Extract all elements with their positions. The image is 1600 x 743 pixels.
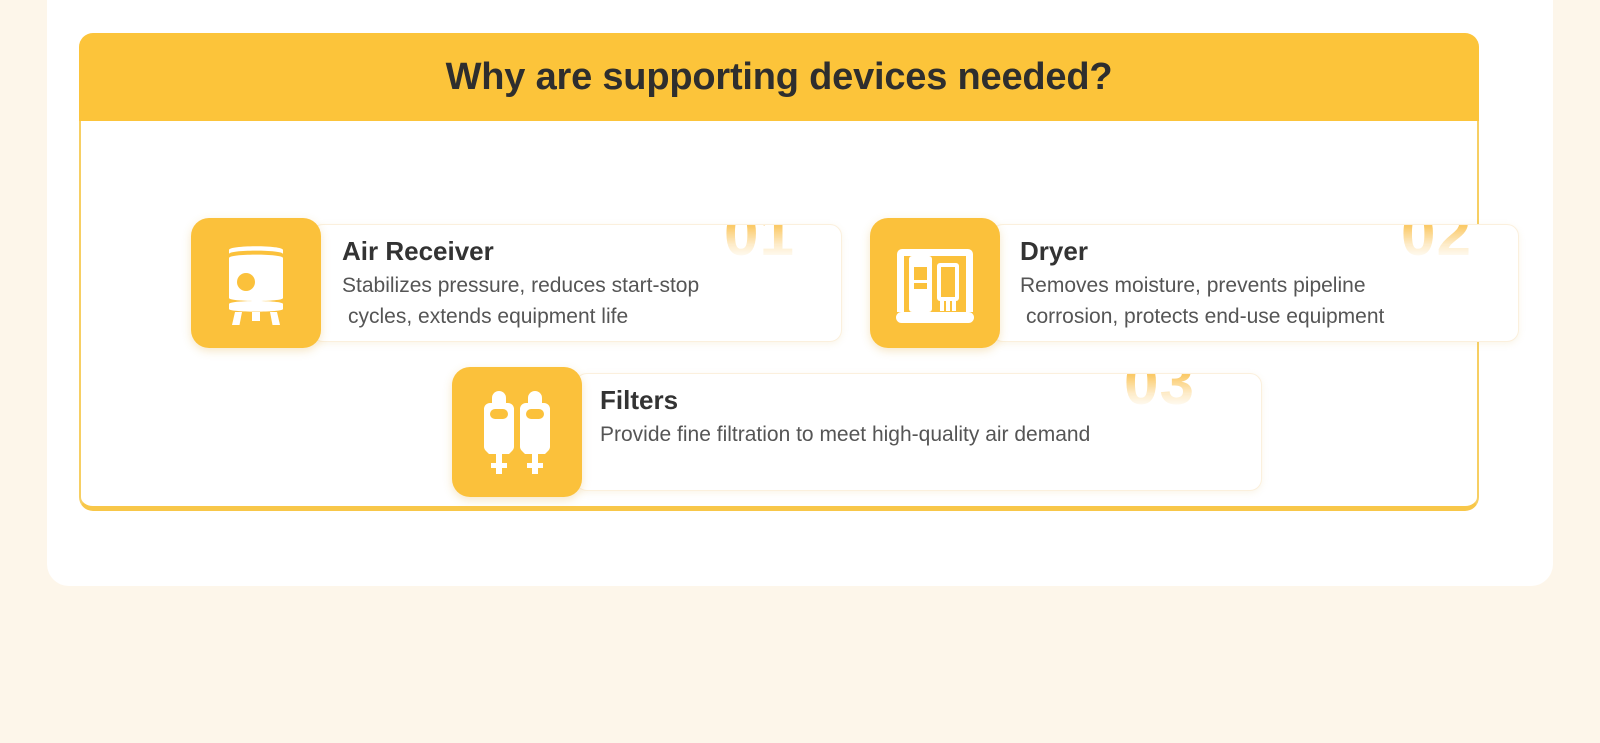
card-description-line-1: Stabilizes pressure, reduces start-stop — [342, 274, 699, 297]
air-receiver-tank-icon — [218, 241, 294, 325]
card-description: Provide fine filtration to meet high-qua… — [600, 419, 1090, 450]
dryer-cabinet-icon — [896, 243, 974, 323]
dryer-icon-tile — [870, 218, 1000, 348]
device-card-filters[interactable]: 03 Filters Provide fine filtration to me… — [575, 373, 1262, 491]
card-text-block: Dryer Removes moisture, prevents pipelin… — [1020, 236, 1384, 332]
card-number-watermark: 02 — [1401, 224, 1472, 270]
card-description: Stabilizes pressure, reduces start-stop … — [342, 270, 699, 332]
card-title: Dryer — [1020, 236, 1384, 266]
card-description-line-1: Removes moisture, prevents pipeline — [1020, 274, 1366, 297]
card-number-watermark: 03 — [1124, 373, 1195, 419]
device-card-dryer[interactable]: 02 Dryer Removes moisture, prevents pipe… — [991, 224, 1519, 342]
panel-title: Why are supporting devices needed? — [446, 56, 1113, 99]
filters-icon-tile — [452, 367, 582, 497]
card-number-watermark: 01 — [724, 224, 795, 270]
filter-vessels-icon — [482, 389, 552, 475]
card-description: Removes moisture, prevents pipeline corr… — [1020, 270, 1384, 332]
card-description-line-2: corrosion, protects end-use equipment — [1020, 301, 1384, 332]
device-card-air-receiver[interactable]: 01 Air Receiver Stabilizes pressure, red… — [311, 224, 842, 342]
card-title: Filters — [600, 385, 1090, 415]
card-description-line-1: Provide fine filtration to meet high-qua… — [600, 423, 1090, 446]
card-description-line-2: cycles, extends equipment life — [342, 301, 699, 332]
card-text-block: Filters Provide fine filtration to meet … — [600, 385, 1090, 450]
panel-header: Why are supporting devices needed? — [79, 33, 1479, 121]
card-title: Air Receiver — [342, 236, 699, 266]
supporting-devices-panel: Why are supporting devices needed? 01 Ai… — [79, 33, 1479, 511]
air-receiver-icon-tile — [191, 218, 321, 348]
card-text-block: Air Receiver Stabilizes pressure, reduce… — [342, 236, 699, 332]
